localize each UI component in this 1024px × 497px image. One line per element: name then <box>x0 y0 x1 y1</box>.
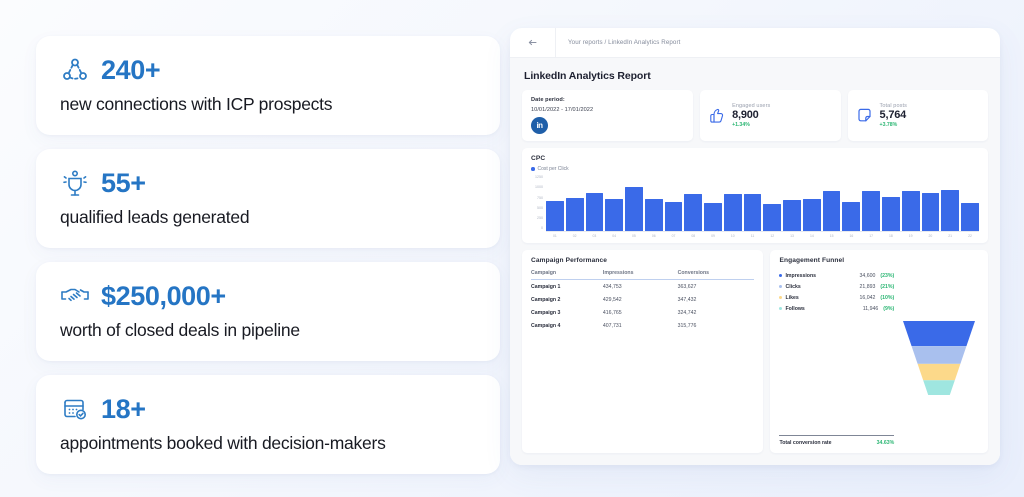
date-period-label: Date period: <box>531 97 565 103</box>
browser-toolbar: Your reports / LinkedIn Analytics Report <box>510 28 1000 58</box>
funnel-stage-row: Likes16,042(10%) <box>779 292 894 303</box>
funnel-stage-value: 11,946 <box>863 306 878 312</box>
bar[interactable] <box>941 190 959 231</box>
stat-value: 18+ <box>101 396 146 423</box>
bar-series <box>546 176 979 232</box>
kpi-card-total-posts: Total posts 5,764 +3.78% <box>848 90 988 141</box>
bar[interactable] <box>862 191 880 231</box>
funnel-stage-row: Follows11,946(9%) <box>779 303 894 314</box>
panel-title: Campaign Performance <box>531 257 754 264</box>
stat-header: 55+ <box>60 168 476 198</box>
y-axis-tick: 250 <box>537 217 543 221</box>
kpi-value: 8,900 <box>732 110 770 122</box>
metric-cell: 434,753 <box>603 280 678 294</box>
x-axis-tick: 18 <box>882 234 900 238</box>
bar[interactable] <box>566 198 584 231</box>
y-axis-tick: 750 <box>537 197 543 201</box>
kpi-name: Total posts <box>880 103 907 109</box>
bottom-row: Campaign Performance CampaignImpressions… <box>522 250 988 453</box>
x-axis-tick: 01 <box>546 234 564 238</box>
table-body: Campaign 1434,753363,627Campaign 2429,54… <box>531 280 754 333</box>
table-row: Campaign 3416,765324,742 <box>531 306 754 319</box>
stat-header: 240+ <box>60 55 476 85</box>
funnel-color-swatch <box>779 274 782 277</box>
x-axis-tick: 03 <box>586 234 604 238</box>
total-conversion-rate: Total conversion rate 34.63% <box>779 435 894 446</box>
bar[interactable] <box>744 194 762 231</box>
campaign-table: CampaignImpressionsConversions Campaign … <box>531 270 754 332</box>
campaign-name: Campaign 2 <box>531 293 603 306</box>
bar[interactable] <box>704 203 722 231</box>
bar[interactable] <box>605 199 623 231</box>
legend-label: Cost per Click <box>538 166 569 172</box>
campaign-name: Campaign 3 <box>531 306 603 319</box>
table-row: Campaign 1434,753363,627 <box>531 280 754 294</box>
funnel-wrap: Impressions34,600(23%)Clicks21,893(21%)L… <box>779 270 979 446</box>
x-axis-tick: 06 <box>645 234 663 238</box>
funnel-segment[interactable] <box>923 380 955 395</box>
x-axis-tick: 16 <box>842 234 860 238</box>
table-row: Campaign 4407,731315,776 <box>531 319 754 332</box>
metric-cell: 407,731 <box>603 319 678 332</box>
kpi-delta: +3.78% <box>880 122 907 128</box>
table-header-row: CampaignImpressionsConversions <box>531 270 754 280</box>
funnel-legend: Impressions34,600(23%)Clicks21,893(21%)L… <box>779 270 894 446</box>
x-axis-tick: 11 <box>744 234 762 238</box>
funnel-stage-value: 34,600 <box>860 273 876 279</box>
bar[interactable] <box>546 201 564 231</box>
x-axis-tick: 07 <box>665 234 683 238</box>
funnel-stage-list: Impressions34,600(23%)Clicks21,893(21%)L… <box>779 270 894 432</box>
landing-stats-page: 240+ new connections with ICP prospects … <box>0 0 1024 497</box>
funnel-stage-percent: (21%) <box>880 284 894 290</box>
funnel-stage-value: 16,042 <box>860 295 876 301</box>
kpi-body: Engaged users 8,900 +1.34% <box>732 103 770 129</box>
funnel-segment[interactable] <box>903 321 975 346</box>
bar[interactable] <box>684 194 702 231</box>
total-conversion-value: 34.63% <box>877 440 895 446</box>
funnel-stage-name: Follows <box>785 306 859 312</box>
x-axis-tick: 12 <box>763 234 781 238</box>
panel-title: Engagement Funnel <box>779 257 979 264</box>
column-header: Campaign <box>531 270 603 280</box>
stat-label: new connections with ICP prospects <box>60 94 476 115</box>
calendar-check-icon <box>60 394 90 424</box>
column-header: Conversions <box>678 270 755 280</box>
cpc-chart-card: CPC Cost per Click 125010007505002500 01… <box>522 148 988 243</box>
stat-header: 18+ <box>60 394 476 424</box>
y-axis-tick: 1250 <box>535 176 543 180</box>
stat-label: qualified leads generated <box>60 207 476 228</box>
funnel-stage-row: Clicks21,893(21%) <box>779 281 894 292</box>
y-axis-tick: 0 <box>541 227 543 231</box>
bar[interactable] <box>823 191 841 231</box>
chart-title: CPC <box>531 155 979 162</box>
handshake-icon <box>60 281 90 311</box>
funnel-stage-value: 21,893 <box>860 284 876 290</box>
metric-cell: 347,432 <box>678 293 755 306</box>
funnel-color-swatch <box>779 285 782 288</box>
x-axis-tick: 04 <box>605 234 623 238</box>
stat-value: $250,000+ <box>101 283 226 310</box>
funnel-segment[interactable] <box>912 346 967 364</box>
kpi-delta: +1.34% <box>732 122 770 128</box>
campaign-name: Campaign 4 <box>531 319 603 332</box>
column-header: Impressions <box>603 270 678 280</box>
kpi-card-engaged-users: Engaged users 8,900 +1.34% <box>700 90 840 141</box>
chart-plot-area: 125010007505002500 010203040506070809101… <box>531 176 979 238</box>
date-period-card: Date period: 10/01/2022 - 17/01/2022 in <box>522 90 693 141</box>
bar[interactable] <box>882 197 900 231</box>
kpi-name: Engaged users <box>732 103 770 109</box>
note-icon <box>857 108 872 123</box>
y-axis-tick: 500 <box>537 207 543 211</box>
x-axis-tick: 09 <box>704 234 722 238</box>
stat-card: 55+ qualified leads generated <box>36 149 500 248</box>
kpi-value: 5,764 <box>880 110 907 122</box>
funnel-stage-name: Clicks <box>785 284 856 290</box>
bars-area: 0102030405060708091011121314151617181920… <box>546 176 979 238</box>
browser-window: Your reports / LinkedIn Analytics Report… <box>510 28 1000 465</box>
funnel-stage-percent: (23%) <box>880 273 894 279</box>
bar[interactable] <box>625 187 643 231</box>
x-axis-tick: 19 <box>902 234 920 238</box>
network-nodes-icon <box>60 55 90 85</box>
report-body: LinkedIn Analytics Report Date period: 1… <box>510 58 1000 465</box>
funnel-color-swatch <box>779 296 782 299</box>
x-axis-tick: 21 <box>941 234 959 238</box>
legend-color-swatch <box>531 167 535 171</box>
x-axis: 0102030405060708091011121314151617181920… <box>546 232 979 238</box>
x-axis-tick: 15 <box>823 234 841 238</box>
bar[interactable] <box>586 193 604 231</box>
bar[interactable] <box>763 204 781 231</box>
total-conversion-label: Total conversion rate <box>779 440 831 446</box>
table-row: Campaign 2429,542347,432 <box>531 293 754 306</box>
metric-cell: 416,765 <box>603 306 678 319</box>
funnel-stage-row: Impressions34,600(23%) <box>779 270 894 281</box>
stat-header: $250,000+ <box>60 281 476 311</box>
arrow-left-icon[interactable] <box>510 28 556 57</box>
date-period-value: 10/01/2022 - 17/01/2022 <box>531 107 593 113</box>
stat-card: 18+ appointments booked with decision-ma… <box>36 375 500 474</box>
x-axis-tick: 10 <box>724 234 742 238</box>
funnel-chart <box>899 270 979 446</box>
bar[interactable] <box>665 202 683 231</box>
stat-card: $250,000+ worth of closed deals in pipel… <box>36 262 500 361</box>
bar[interactable] <box>902 191 920 231</box>
x-axis-tick: 20 <box>922 234 940 238</box>
thumbs-up-icon <box>709 108 724 124</box>
funnel-stage-name: Likes <box>785 295 856 301</box>
dashboard-preview-column: Your reports / LinkedIn Analytics Report… <box>500 0 1024 497</box>
x-axis-tick: 02 <box>566 234 584 238</box>
bar[interactable] <box>803 199 821 231</box>
bar[interactable] <box>724 194 742 231</box>
stats-column: 240+ new connections with ICP prospects … <box>0 0 500 497</box>
stat-value: 55+ <box>101 170 146 197</box>
bar[interactable] <box>922 193 940 231</box>
x-axis-tick: 17 <box>862 234 880 238</box>
x-axis-tick: 05 <box>625 234 643 238</box>
stat-label: appointments booked with decision-makers <box>60 433 476 454</box>
funnel-segment[interactable] <box>918 364 961 380</box>
metric-cell: 315,776 <box>678 319 755 332</box>
metric-cell: 324,742 <box>678 306 755 319</box>
chart-legend: Cost per Click <box>531 166 979 172</box>
x-axis-tick: 14 <box>803 234 821 238</box>
y-axis-tick: 1000 <box>535 186 543 190</box>
lead-magnet-icon <box>60 168 90 198</box>
kpi-body: Total posts 5,764 +3.78% <box>880 103 907 129</box>
campaign-name: Campaign 1 <box>531 280 603 294</box>
metric-cell: 363,627 <box>678 280 755 294</box>
funnel-stage-name: Impressions <box>785 273 856 279</box>
stat-label: worth of closed deals in pipeline <box>60 320 476 341</box>
campaign-performance-panel: Campaign Performance CampaignImpressions… <box>522 250 763 453</box>
kpi-row: Date period: 10/01/2022 - 17/01/2022 in <box>522 90 988 141</box>
funnel-shape <box>903 321 975 395</box>
metric-cell: 429,542 <box>603 293 678 306</box>
x-axis-tick: 22 <box>961 234 979 238</box>
funnel-stage-percent: (9%) <box>883 306 894 312</box>
stat-card: 240+ new connections with ICP prospects <box>36 36 500 135</box>
stat-value: 240+ <box>101 57 160 84</box>
x-axis-tick: 13 <box>783 234 801 238</box>
funnel-stage-percent: (10%) <box>880 295 894 301</box>
bar[interactable] <box>961 203 979 231</box>
bar[interactable] <box>783 200 801 231</box>
page-title: LinkedIn Analytics Report <box>522 68 988 83</box>
engagement-funnel-panel: Engagement Funnel Impressions34,600(23%)… <box>770 250 988 453</box>
x-axis-tick: 08 <box>684 234 702 238</box>
funnel-color-swatch <box>779 307 782 310</box>
y-axis: 125010007505002500 <box>531 176 546 238</box>
bar[interactable] <box>645 199 663 231</box>
breadcrumb[interactable]: Your reports / LinkedIn Analytics Report <box>556 39 680 46</box>
bar[interactable] <box>842 202 860 231</box>
linkedin-icon: in <box>531 117 548 134</box>
